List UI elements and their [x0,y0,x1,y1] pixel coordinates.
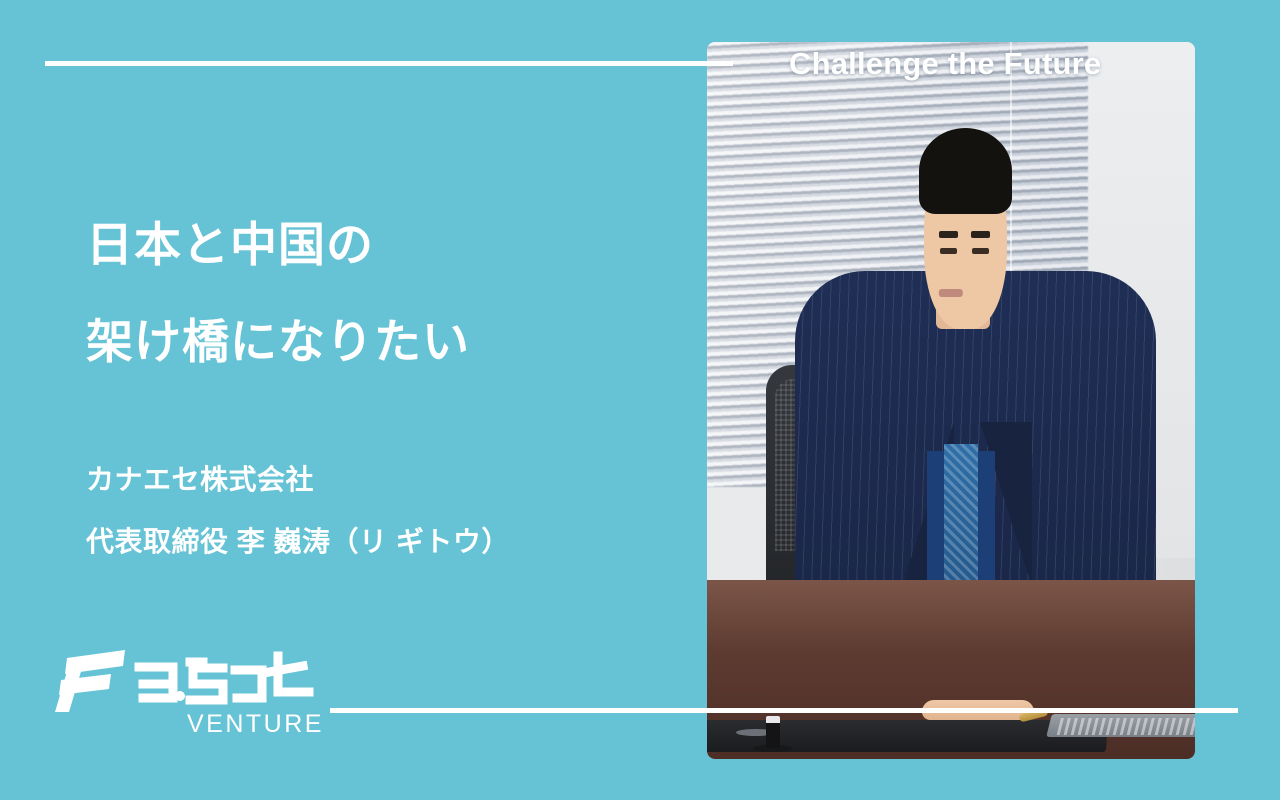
pen-stand [766,716,781,748]
laptop [1046,714,1195,737]
eye-left [940,248,957,254]
tagline-overlay: Challenge the Future [789,46,1101,82]
eyebrow-left [939,231,959,238]
eye-right [972,248,989,254]
portrait-photo [707,42,1195,759]
desk [707,580,1195,759]
necktie [944,444,978,587]
bottom-divider-rule [330,708,1238,713]
page-title: 日本と中国の 架け橋になりたい [86,196,470,390]
subtitle-block: カナエセ株式会社 代表取締役 李 巍涛（リ ギトウ） [86,449,510,573]
company-name: カナエセ株式会社 [86,449,510,511]
person-hair [919,128,1012,214]
brand-logo[interactable]: VENTURE [47,640,319,745]
eyebrow-right [971,231,991,238]
headline-line-1: 日本と中国の [86,196,470,293]
logo-wordmark: VENTURE [187,710,324,739]
mouth [939,289,963,297]
person-name-title: 代表取締役 李 巍涛（リ ギトウ） [86,511,510,573]
slide-canvas: Challenge the Future 日本と中国の 架け橋になりたい カナエ… [0,0,1280,800]
top-divider-rule [45,61,733,66]
laptop-keyboard [1056,718,1195,734]
headline-line-2: 架け橋になりたい [86,293,470,390]
